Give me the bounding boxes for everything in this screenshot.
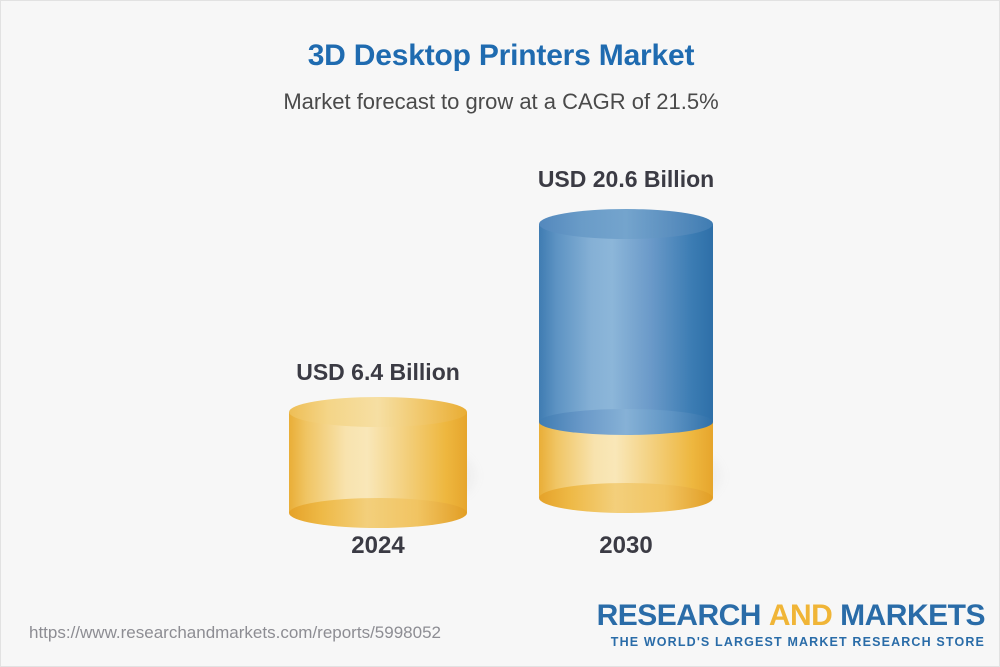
- brand-space-2: [832, 599, 840, 632]
- bar-bottom-cap-2024: [289, 498, 467, 528]
- brand-word-markets: MARKETS: [840, 599, 985, 632]
- category-label-2030: 2030: [526, 532, 726, 560]
- bar-segment-divider-2030: [539, 409, 713, 435]
- brand-word-research: RESEARCH: [597, 599, 761, 632]
- brand-logo[interactable]: RESEARCH AND MARKETS THE WORLD'S LARGEST…: [597, 601, 985, 649]
- bar-cylinder-2024: [289, 397, 467, 513]
- brand-word-and: AND: [769, 599, 833, 632]
- bar-segment-growth-2030: [539, 224, 713, 422]
- brand-space-1: [761, 599, 769, 632]
- bar-cylinder-2030: [539, 209, 713, 513]
- bar-bottom-cap-2030: [539, 483, 713, 513]
- value-label-2024: USD 6.4 Billion: [278, 359, 478, 386]
- report-url[interactable]: https://www.researchandmarkets.com/repor…: [29, 623, 441, 643]
- infographic-canvas: 3D Desktop Printers Market Market foreca…: [0, 0, 1000, 667]
- bar-top-cap-2030: [539, 209, 713, 239]
- value-label-2030: USD 20.6 Billion: [526, 166, 726, 193]
- brand-tagline: THE WORLD'S LARGEST MARKET RESEARCH STOR…: [597, 635, 985, 649]
- category-label-2024: 2024: [278, 532, 478, 560]
- bar-top-cap-2024: [289, 397, 467, 427]
- brand-wordmark: RESEARCH AND MARKETS: [597, 601, 985, 631]
- page-subtitle: Market forecast to grow at a CAGR of 21.…: [1, 89, 1000, 115]
- page-title: 3D Desktop Printers Market: [1, 39, 1000, 73]
